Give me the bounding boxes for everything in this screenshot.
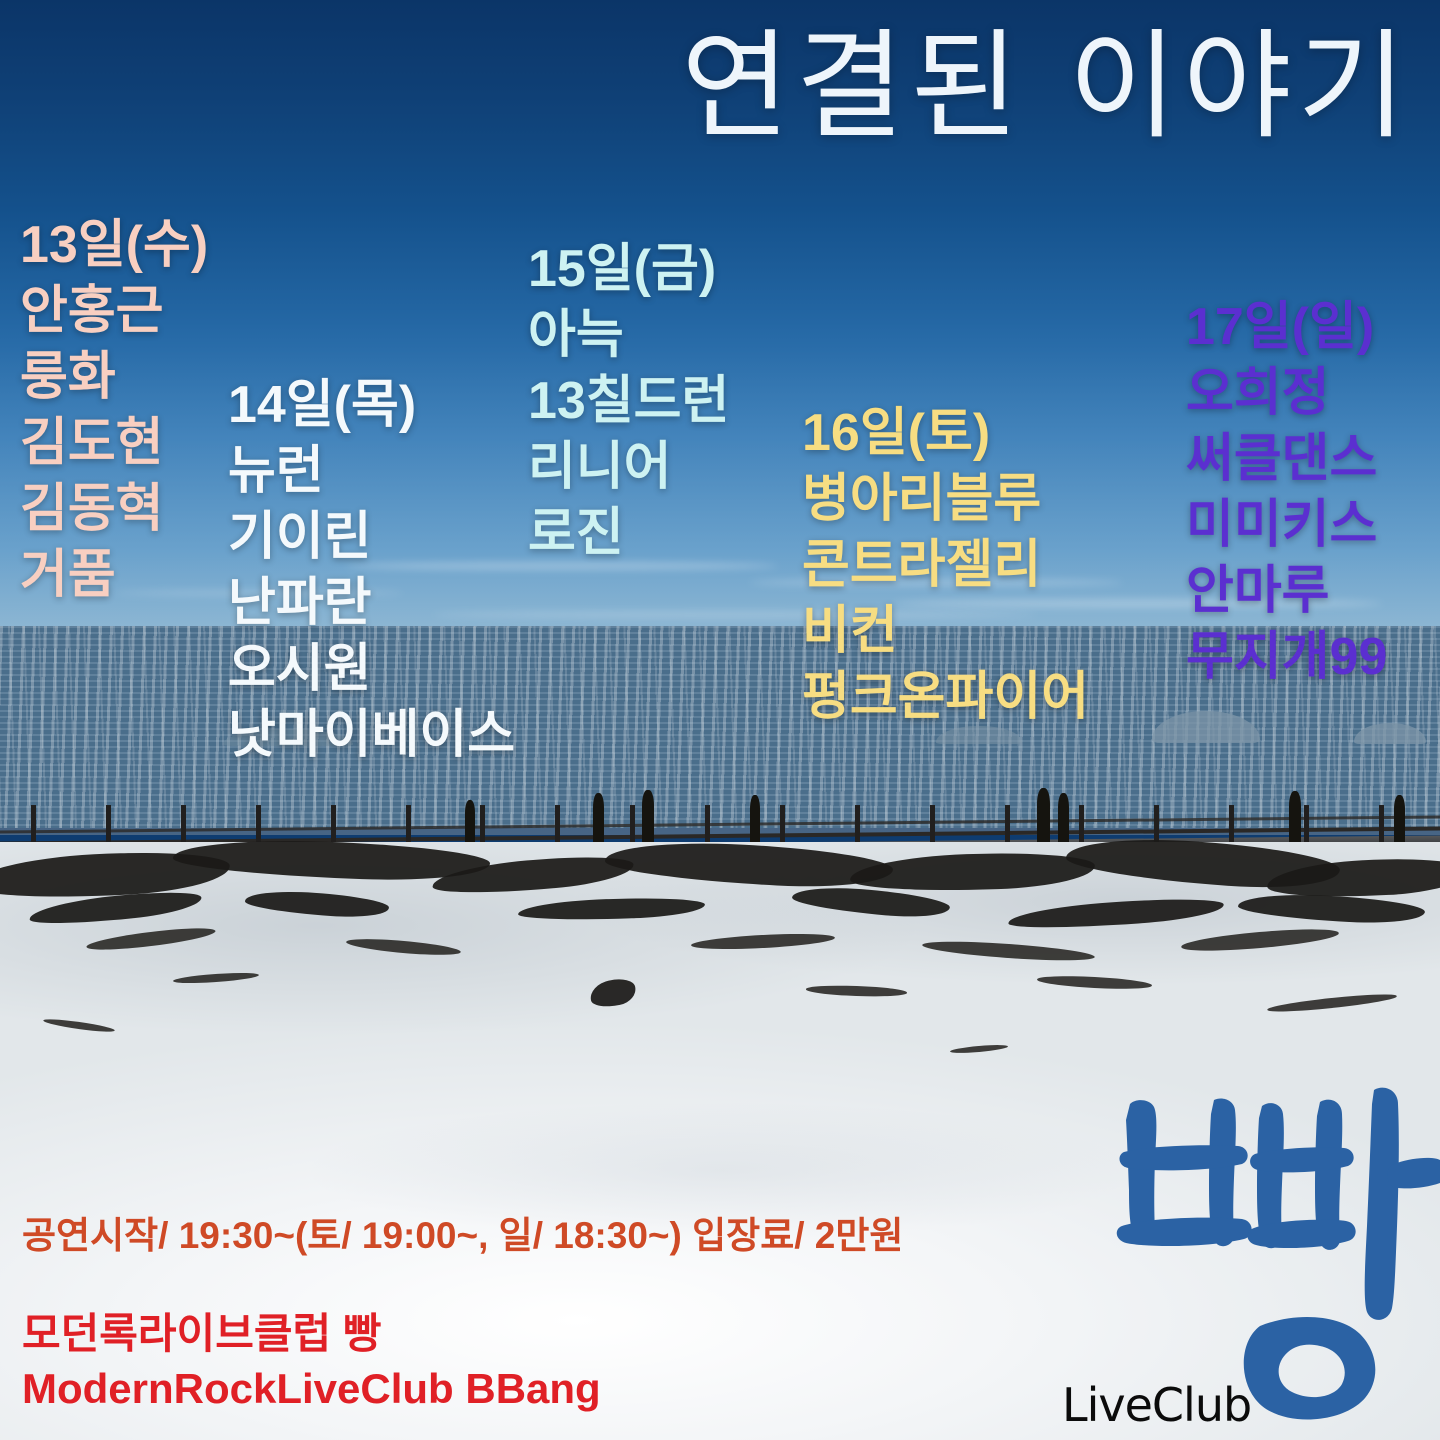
venue-name-english: ModernRockLiveClub BBang xyxy=(22,1361,601,1416)
artist-name: 안마루 xyxy=(1186,558,1387,624)
artist-name: 안홍근 xyxy=(20,278,208,344)
artist-name: 김동혁 xyxy=(20,476,208,542)
hiker-silhouette xyxy=(1037,788,1050,845)
hiker-silhouette xyxy=(593,793,604,845)
hiker-silhouette xyxy=(642,790,654,845)
lineup-column-15: 15일(금) 아늑 13칠드런 리니어 로진 xyxy=(528,236,729,566)
artist-name: 기이린 xyxy=(228,504,515,570)
hiker-silhouette xyxy=(1289,791,1301,845)
hiker-silhouette xyxy=(1058,793,1069,845)
artist-name: 아늑 xyxy=(528,302,729,368)
venue-name: 모던록라이브클럽 빵 ModernRockLiveClub BBang xyxy=(22,1306,601,1417)
artist-name: 로진 xyxy=(528,500,729,566)
lineup-date: 17일(일) xyxy=(1186,294,1387,360)
artist-name: 펑크온파이어 xyxy=(802,664,1089,730)
artist-name: 김도현 xyxy=(20,410,208,476)
lineup-date: 13일(수) xyxy=(20,212,208,278)
lineup-date: 14일(목) xyxy=(228,372,515,438)
logo-caption: LiveClub xyxy=(1062,1378,1251,1432)
lineup-column-13: 13일(수) 안홍근 룽화 김도현 김동혁 거품 xyxy=(20,212,208,608)
artist-name: 13칠드런 xyxy=(528,368,729,434)
lineup-date: 15일(금) xyxy=(528,236,729,302)
artist-name: 써클댄스 xyxy=(1186,426,1387,492)
venue-name-korean: 모던록라이브클럽 빵 xyxy=(22,1306,601,1361)
hiker-silhouette xyxy=(465,800,475,845)
artist-name: 미미키스 xyxy=(1186,492,1387,558)
artist-name: 난파란 xyxy=(228,570,515,636)
concert-poster: 연결된 이야기 13일(수) 안홍근 룽화 김도현 김동혁 거품 14일(목) … xyxy=(0,0,1440,1440)
artist-name: 병아리블루 xyxy=(802,466,1089,532)
artist-name: 룽화 xyxy=(20,344,208,410)
hiker-silhouette xyxy=(750,795,760,845)
lineup-column-14: 14일(목) 뉴런 기이린 난파란 오시원 낫마이베이스 xyxy=(228,372,515,768)
show-time-and-price: 공연시작/ 19:30~(토/ 19:00~, 일/ 18:30~) 입장료/ … xyxy=(22,1205,903,1259)
hiker-silhouette xyxy=(1394,795,1405,845)
artist-name: 오희정 xyxy=(1186,360,1387,426)
lineup-column-17: 17일(일) 오희정 써클댄스 미미키스 안마루 무지개99 xyxy=(1186,294,1387,690)
artist-name: 리니어 xyxy=(528,434,729,500)
artist-name: 낫마이베이스 xyxy=(228,702,515,768)
artist-name: 오시원 xyxy=(228,636,515,702)
artist-name: 콘트라젤리 xyxy=(802,532,1089,598)
lineup-date: 16일(토) xyxy=(802,400,1089,466)
artist-name: 거품 xyxy=(20,542,208,608)
lineup-column-16: 16일(토) 병아리블루 콘트라젤리 비컨 펑크온파이어 xyxy=(802,400,1089,730)
artist-name: 비컨 xyxy=(802,598,1089,664)
artist-name: 뉴런 xyxy=(228,438,515,504)
bbang-logo-icon xyxy=(1092,1086,1440,1426)
page-title: 연결된 이야기 xyxy=(0,26,1412,146)
artist-name: 무지개99 xyxy=(1186,624,1387,690)
